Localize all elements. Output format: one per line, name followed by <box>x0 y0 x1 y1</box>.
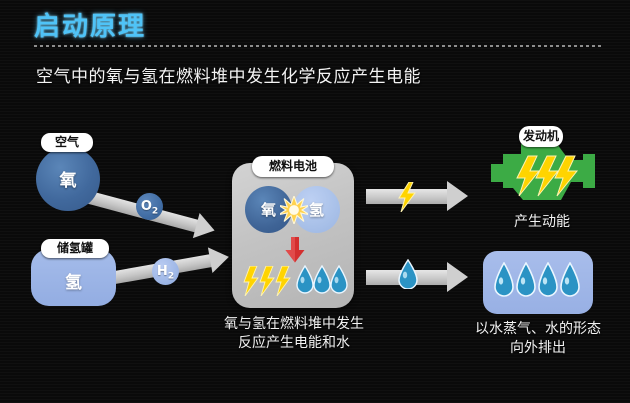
fuel-cell-caption-line1: 氧与氢在燃料堆中发生 <box>203 315 385 334</box>
o2-molecule-badge: O2 <box>136 193 163 220</box>
water-droplet-icon <box>397 259 419 289</box>
h2-badge-symbol: H <box>157 264 168 279</box>
air-oxygen-circle: 氧 <box>36 147 100 211</box>
water-droplet-icon <box>493 262 585 302</box>
air-oxygen-glyph: 氧 <box>36 166 100 191</box>
fuel-cell-caption-line2: 反应产生电能和水 <box>203 334 385 353</box>
engine-caption: 产生动能 <box>466 211 618 231</box>
fuel-cell-caption: 氧与氢在燃料堆中发生 反应产生电能和水 <box>203 315 385 353</box>
air-label-pill: 空气 <box>41 133 93 152</box>
water-caption-line2: 向外排出 <box>448 339 628 358</box>
water-output-caption: 以水蒸气、水的形态 向外排出 <box>448 320 628 358</box>
water-caption-line1: 以水蒸气、水的形态 <box>448 320 628 339</box>
o2-badge-subscript: 2 <box>152 207 158 217</box>
hydrogen-tank-label-pill: 储氢罐 <box>41 239 109 258</box>
subtitle-text: 空气中的氧与氢在燃料堆中发生化学反应产生电能 <box>36 62 421 87</box>
lightning-bolt-icon <box>396 182 418 212</box>
fuel-cell-label-pill: 燃料电池 <box>252 156 334 177</box>
red-down-arrow-icon <box>285 237 305 263</box>
o2-badge-symbol: O <box>141 199 152 214</box>
water-output-panel <box>483 251 593 314</box>
hydrogen-tank-glyph: 氢 <box>31 268 116 293</box>
h2-molecule-badge: H2 <box>152 258 179 285</box>
slide-canvas: 启动原理 空气中的氧与氢在燃料堆中发生化学反应产生电能 空气 氧 储氢罐 氢 O… <box>0 0 630 403</box>
starburst-icon <box>280 196 308 224</box>
engine-label-pill: 发动机 <box>519 126 563 147</box>
h2-badge-subscript: 2 <box>168 272 174 282</box>
page-title: 启动原理 <box>34 14 146 40</box>
lightning-bolt-icon <box>242 266 294 296</box>
engine-icon <box>483 138 601 210</box>
fuel-cell-panel: 氧 氢 <box>232 163 354 308</box>
water-droplet-icon <box>296 265 348 297</box>
title-divider <box>34 45 604 47</box>
